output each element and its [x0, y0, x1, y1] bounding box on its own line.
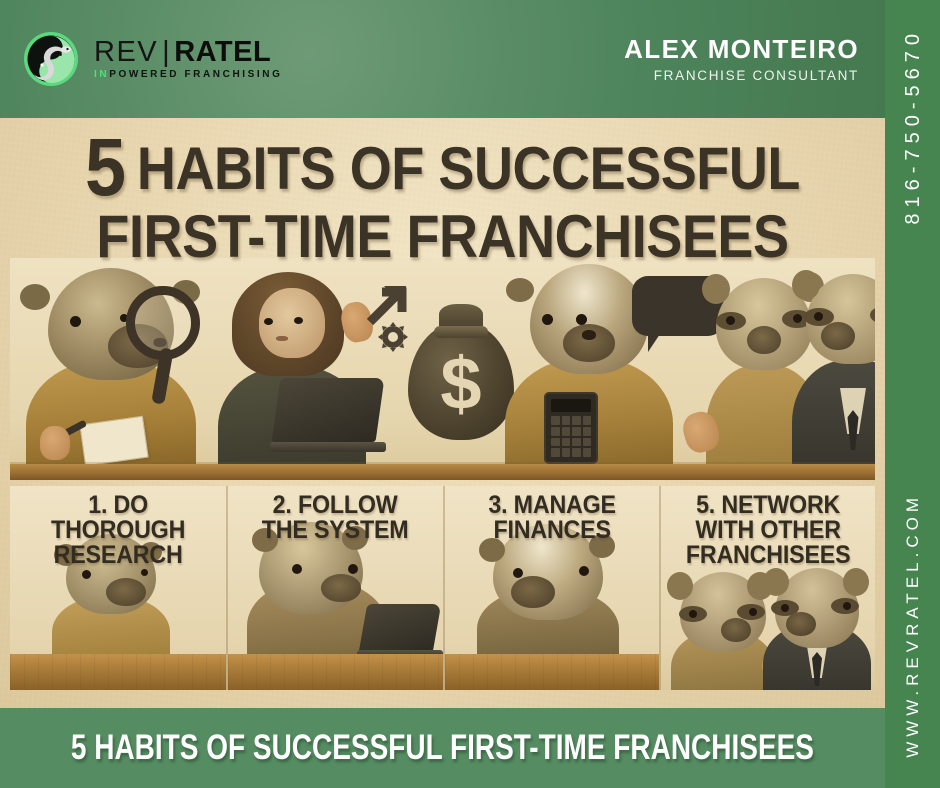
consultant-role: FRANCHISE CONSULTANT [624, 68, 859, 84]
notepad-icon [79, 416, 148, 466]
page-title: 5HABITS OF SUCCESSFUL FIRST-TIME FRANCHI… [0, 128, 885, 266]
calculator-icon [544, 392, 598, 464]
poster-body: 5HABITS OF SUCCESSFUL FIRST-TIME FRANCHI… [0, 118, 885, 708]
habit-label-5: 5. NETWORK WITH OTHER FRANCHISEES [668, 493, 867, 568]
dollar-symbol: $ [440, 347, 481, 421]
brand-name-rev: REV [94, 38, 158, 67]
desk-surface [10, 464, 875, 480]
habit-label-2: 2. FOLLOW THE SYSTEM [236, 493, 435, 543]
habit-panel-1[interactable]: 1. DO THOROUGH RESEARCH [10, 486, 226, 690]
brand-tagline-rest: POWERED FRANCHISING [109, 69, 282, 80]
contact-rail: 816-750-5670 WWW.REVRATEL.COM [885, 0, 940, 788]
bottom-banner: 5 HABITS OF SUCCESSFUL FIRST-TIME FRANCH… [0, 708, 885, 788]
website-url[interactable]: WWW.REVRATEL.COM [904, 493, 921, 758]
gear-icon [376, 320, 410, 354]
brand-name-ratel: RATEL [174, 38, 271, 67]
habit-panels: 1. DO THOROUGH RESEARCH 2. FOLLOW THE SY… [10, 486, 875, 690]
header-bar: REV | RATEL IN POWERED FRANCHISING ALEX … [0, 0, 885, 118]
habit-panel-4[interactable]: 5. NETWORK WITH OTHER FRANCHISEES [659, 486, 875, 690]
desk-surface-1 [10, 654, 226, 690]
laptop-icon-2 [358, 604, 440, 652]
phone-number[interactable]: 816-750-5670 [903, 28, 923, 225]
banner-title: 5 HABITS OF SUCCESSFUL FIRST-TIME FRANCH… [71, 728, 814, 768]
headline-number: 5 [85, 122, 124, 213]
raccoon-suit-figure [790, 264, 875, 464]
consultant-block: ALEX MONTEIRO FRANCHISE CONSULTANT [624, 34, 859, 84]
social-graphic-canvas: REV | RATEL IN POWERED FRANCHISING ALEX … [0, 0, 940, 788]
headline-text-1: HABITS OF SUCCESSFUL [137, 135, 800, 202]
consultant-name: ALEX MONTEIRO [624, 34, 859, 65]
habit-panel-3[interactable]: 3. MANAGE FINANCES [443, 486, 659, 690]
brand-divider: | [162, 38, 170, 67]
habit-panel-2[interactable]: 2. FOLLOW THE SYSTEM [226, 486, 442, 690]
woman-at-laptop-figure [202, 258, 382, 464]
habit-label-3: 3. MANAGE FINANCES [452, 493, 651, 543]
ratel-logo-icon [22, 30, 80, 88]
badger-researcher-figure [16, 264, 206, 464]
habit-label-1: 1. DO THOROUGH RESEARCH [18, 493, 219, 568]
brand-wordmark: REV | RATEL IN POWERED FRANCHISING [94, 38, 283, 80]
brand-tagline-accent: IN [94, 69, 109, 80]
desk-surface-3 [445, 654, 659, 690]
headline-line-1: 5HABITS OF SUCCESSFUL [80, 128, 805, 208]
hero-illustration: $ [10, 258, 875, 480]
headline-line-2: FIRST-TIME FRANCHISEES [80, 208, 805, 266]
brand-lockup[interactable]: REV | RATEL IN POWERED FRANCHISING [22, 30, 283, 88]
raccoon-small-suit [761, 568, 873, 690]
magnifier-icon [126, 286, 200, 360]
desk-surface-2 [228, 654, 442, 690]
